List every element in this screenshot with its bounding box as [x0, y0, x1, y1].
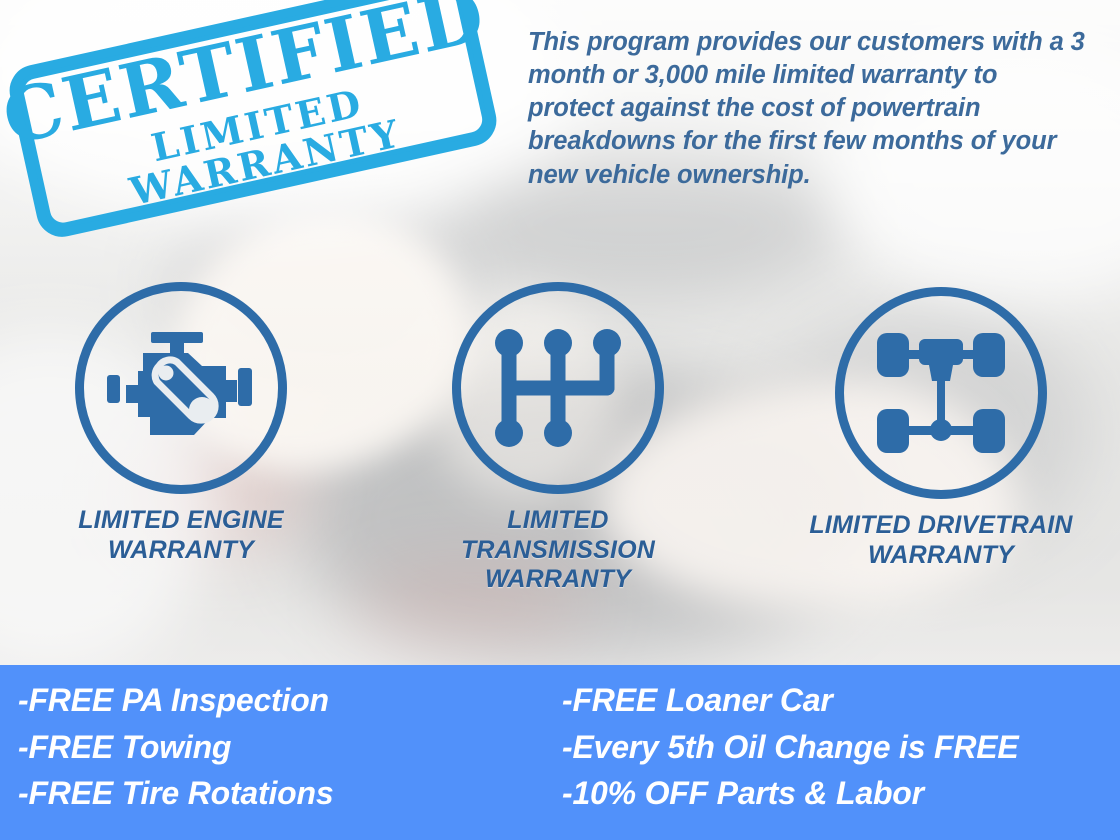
perk-item: -FREE Loaner Car	[562, 677, 1118, 724]
feature-label-line1: LIMITED DRIVETRAIN	[796, 511, 1086, 541]
feature-label-line1: LIMITED TRANSMISSION	[413, 506, 703, 565]
feature-limited-engine: LIMITED ENGINE WARRANTY	[36, 282, 326, 565]
perk-item: -FREE PA Inspection	[18, 677, 558, 724]
feature-label: LIMITED ENGINE WARRANTY	[36, 506, 326, 565]
perks-left-column: -FREE PA Inspection -FREE Towing -FREE T…	[18, 677, 558, 817]
warranty-poster: CERTIFIED LIMITED WARRANTY This program …	[0, 0, 1120, 840]
feature-limited-transmission: LIMITED TRANSMISSION WARRANTY	[413, 282, 703, 595]
perks-right-column: -FREE Loaner Car -Every 5th Oil Change i…	[562, 677, 1118, 817]
perk-item: -10% OFF Parts & Labor	[562, 770, 1118, 817]
feature-label: LIMITED TRANSMISSION WARRANTY	[413, 506, 703, 595]
perks-banner: -FREE PA Inspection -FREE Towing -FREE T…	[0, 665, 1120, 840]
feature-label: LIMITED DRIVETRAIN WARRANTY	[796, 511, 1086, 570]
feature-label-line2: WARRANTY	[796, 541, 1086, 571]
feature-label-line2: WARRANTY	[36, 536, 326, 566]
perk-item: -FREE Towing	[18, 724, 558, 771]
engine-icon	[107, 332, 255, 444]
perk-item: -Every 5th Oil Change is FREE	[562, 724, 1118, 771]
drivetrain-icon-circle	[835, 287, 1047, 499]
feature-label-line2: WARRANTY	[413, 565, 703, 595]
feature-limited-drivetrain: LIMITED DRIVETRAIN WARRANTY	[796, 287, 1086, 570]
intro-paragraph: This program provides our customers with…	[528, 26, 1088, 192]
gear-shifter-icon-circle	[452, 282, 664, 494]
drivetrain-icon	[875, 327, 1007, 459]
feature-row: LIMITED ENGINE WARRANTY	[0, 282, 1120, 582]
engine-icon-circle	[75, 282, 287, 494]
perk-item: -FREE Tire Rotations	[18, 770, 558, 817]
feature-label-line1: LIMITED ENGINE	[36, 506, 326, 536]
gear-shifter-icon	[492, 328, 624, 448]
